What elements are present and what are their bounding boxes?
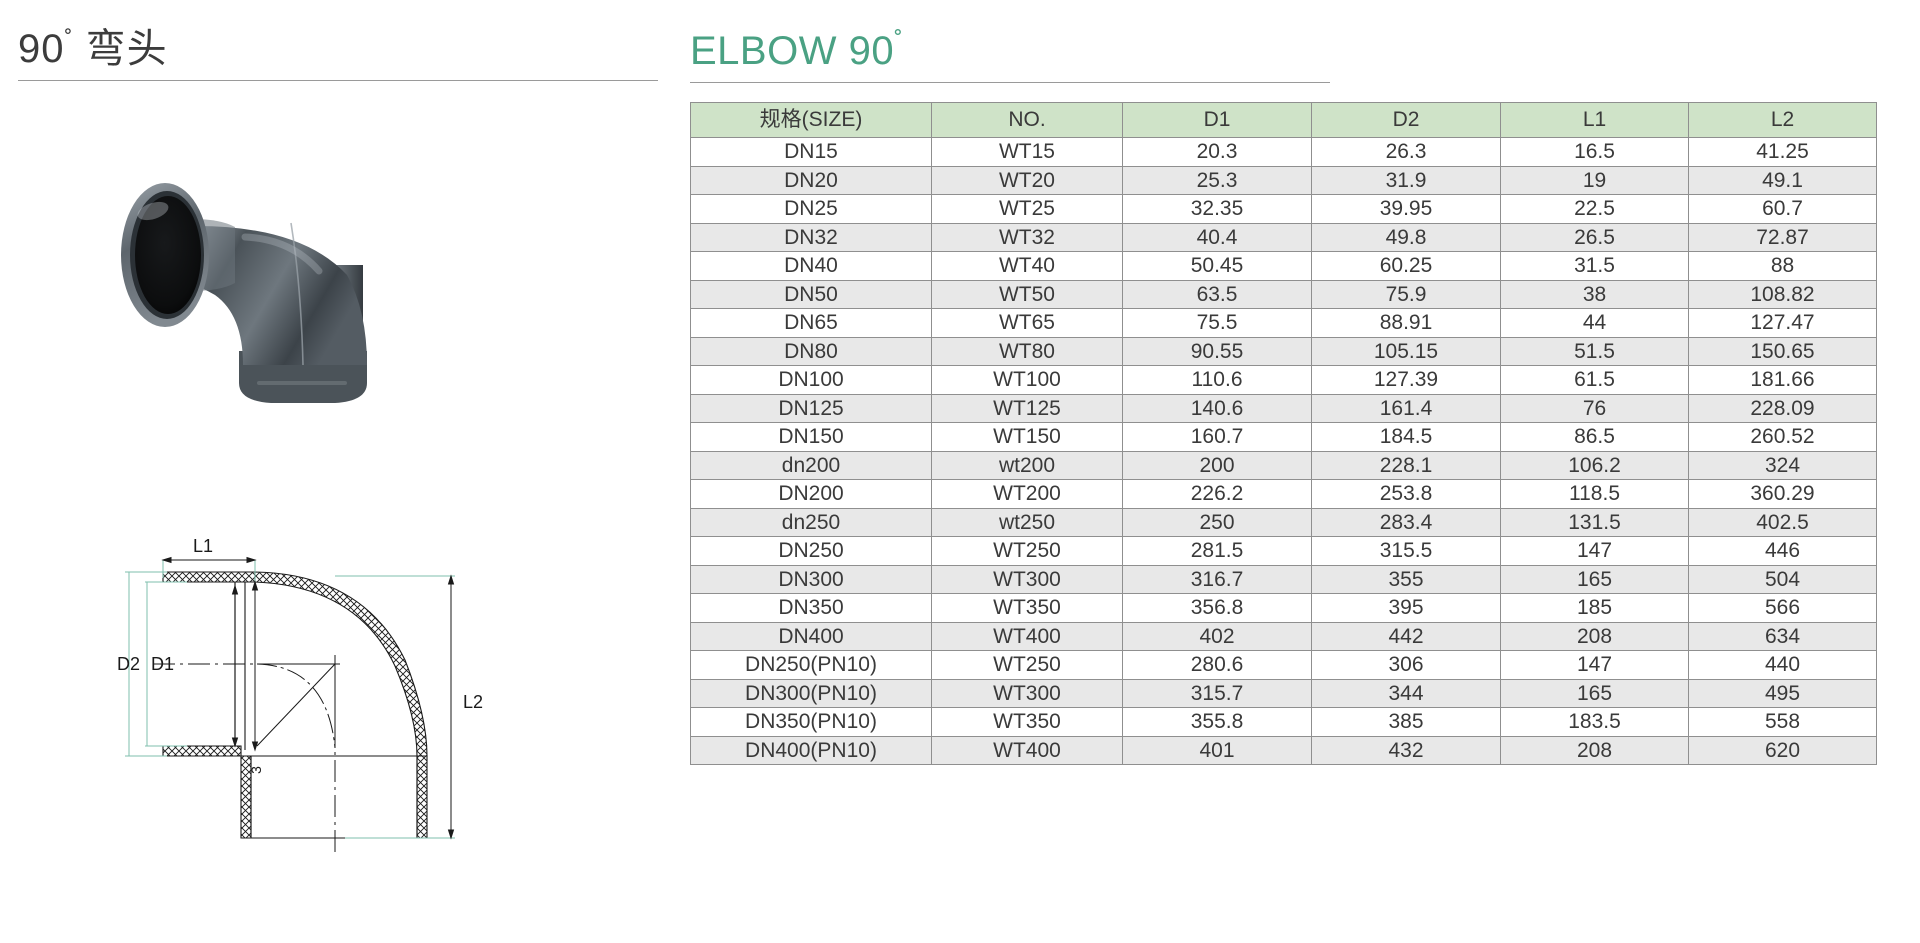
table-cell-d1: 355.8 [1123,708,1312,737]
table-row: DN300(PN10)WT300315.7344165495 [691,679,1877,708]
table-cell-l1: 44 [1501,309,1689,338]
table-cell-d2: 253.8 [1312,480,1501,509]
table-cell-no: WT400 [932,622,1123,651]
table-cell-no: WT100 [932,366,1123,395]
table-cell-l1: 51.5 [1501,337,1689,366]
table-cell-size: DN350 [691,594,932,623]
degree-symbol-chinese: ˚ [65,27,74,54]
table-cell-no: WT20 [932,166,1123,195]
table-cell-no: WT40 [932,252,1123,281]
table-cell-no: WT300 [932,679,1123,708]
title-underline-chinese [18,80,658,81]
table-cell-no: wt200 [932,451,1123,480]
table-cell-l2: 360.29 [1689,480,1877,509]
dimension-l1-arrowline [163,558,255,563]
l1-arrow-right [247,558,255,563]
table-cell-size: DN40 [691,252,932,281]
table-cell-l1: 208 [1501,622,1689,651]
table-cell-no: WT125 [932,394,1123,423]
product-photo-svg [95,115,475,415]
table-cell-size: DN50 [691,280,932,309]
table-cell-l1: 16.5 [1501,138,1689,167]
dimension-label-d2: D2 [117,654,140,674]
table-cell-d2: 385 [1312,708,1501,737]
table-cell-d2: 306 [1312,651,1501,680]
table-cell-l2: 260.52 [1689,423,1877,452]
table-cell-d1: 315.7 [1123,679,1312,708]
table-cell-size: dn250 [691,508,932,537]
table-row: DN125WT125140.6161.476228.09 [691,394,1877,423]
page-title-chinese-word: 弯头 [74,27,168,71]
specification-table-wrapper: 规格(SIZE) NO. D1 D2 L1 L2 DN15WT1520.326.… [690,102,1870,765]
table-cell-l1: 208 [1501,736,1689,765]
page-title-chinese: 90˚ 弯头 [18,16,658,74]
dimension-l2 [335,576,455,838]
table-row: DN50WT5063.575.938108.82 [691,280,1877,309]
table-cell-no: WT250 [932,651,1123,680]
table-cell-size: DN200 [691,480,932,509]
table-cell-d2: 75.9 [1312,280,1501,309]
table-cell-d2: 283.4 [1312,508,1501,537]
table-cell-size: DN400 [691,622,932,651]
table-cell-size: dn200 [691,451,932,480]
table-cell-l1: 147 [1501,537,1689,566]
table-cell-l2: 566 [1689,594,1877,623]
table-cell-l2: 446 [1689,537,1877,566]
table-cell-no: WT250 [932,537,1123,566]
table-cell-no: WT400 [932,736,1123,765]
table-cell-size: DN20 [691,166,932,195]
table-cell-l1: 185 [1501,594,1689,623]
product-photo [95,115,475,415]
table-cell-d2: 49.8 [1312,223,1501,252]
table-cell-d2: 31.9 [1312,166,1501,195]
table-cell-d2: 105.15 [1312,337,1501,366]
thickness-arrow-bottom-b [253,742,258,750]
table-cell-d1: 356.8 [1123,594,1312,623]
table-cell-size: DN300 [691,565,932,594]
technical-drawing: L1 D2 D1 [95,520,515,860]
table-cell-d1: 316.7 [1123,565,1312,594]
table-row: DN25WT2532.3539.9522.560.7 [691,195,1877,224]
l2-arrow-top [449,576,454,584]
table-cell-l1: 38 [1501,280,1689,309]
thickness-arrow-top-b [253,582,258,590]
table-cell-l1: 26.5 [1501,223,1689,252]
table-cell-d2: 60.25 [1312,252,1501,281]
table-cell-l1: 31.5 [1501,252,1689,281]
table-cell-l2: 495 [1689,679,1877,708]
column-header-size: 规格(SIZE) [691,103,932,138]
l2-arrow-bottom [449,830,454,838]
bend-radius-construction [257,664,335,748]
table-cell-l2: 181.66 [1689,366,1877,395]
column-header-l2: L2 [1689,103,1877,138]
table-cell-size: DN80 [691,337,932,366]
table-head: 规格(SIZE) NO. D1 D2 L1 L2 [691,103,1877,138]
table-cell-size: DN250 [691,537,932,566]
bore-outline-vertical [251,756,417,838]
page-title-english: ELBOW 90˚ [690,16,1330,76]
table-cell-d1: 401 [1123,736,1312,765]
table-cell-l2: 72.87 [1689,223,1877,252]
table-cell-size: DN250(PN10) [691,651,932,680]
table-cell-size: DN65 [691,309,932,338]
table-cell-d1: 110.6 [1123,366,1312,395]
table-cell-d1: 402 [1123,622,1312,651]
table-cell-l2: 440 [1689,651,1877,680]
table-row: DN350(PN10)WT350355.8385183.5558 [691,708,1877,737]
dimension-label-l1: L1 [193,536,213,556]
table-body: DN15WT1520.326.316.541.25DN20WT2025.331.… [691,138,1877,765]
table-cell-d2: 432 [1312,736,1501,765]
wall-hatch-top-left [163,572,255,582]
table-row: DN150WT150160.7184.586.5260.52 [691,423,1877,452]
table-cell-no: WT32 [932,223,1123,252]
table-cell-size: DN300(PN10) [691,679,932,708]
table-cell-l2: 127.47 [1689,309,1877,338]
left-column: 90˚ 弯头 [0,0,690,943]
table-cell-d2: 127.39 [1312,366,1501,395]
table-cell-size: DN400(PN10) [691,736,932,765]
table-row: DN200WT200226.2253.8118.5360.29 [691,480,1877,509]
table-cell-no: WT200 [932,480,1123,509]
table-cell-d2: 442 [1312,622,1501,651]
table-cell-d1: 50.45 [1123,252,1312,281]
table-cell-d1: 281.5 [1123,537,1312,566]
table-cell-no: WT150 [932,423,1123,452]
product-datasheet-page: 90˚ 弯头 [0,0,1920,943]
table-cell-l2: 504 [1689,565,1877,594]
title-english-block: ELBOW 90˚ [690,16,1330,83]
title-chinese-block: 90˚ 弯头 [18,16,658,81]
table-row: DN15WT1520.326.316.541.25 [691,138,1877,167]
column-header-d1: D1 [1123,103,1312,138]
dimension-l2-arrowline [449,576,454,838]
table-cell-d1: 40.4 [1123,223,1312,252]
table-cell-l2: 41.25 [1689,138,1877,167]
table-row: dn250wt250250283.4131.5402.5 [691,508,1877,537]
table-cell-no: WT350 [932,594,1123,623]
table-cell-d2: 344 [1312,679,1501,708]
table-row: DN400(PN10)WT400401432208620 [691,736,1877,765]
thickness-arrow-bottom [233,738,238,746]
wall-hatch-bottom-left [163,746,241,756]
table-row: DN80WT8090.55105.1551.5150.65 [691,337,1877,366]
table-row: DN250(PN10)WT250280.6306147440 [691,651,1877,680]
table-cell-l1: 131.5 [1501,508,1689,537]
technical-drawing-svg: L1 D2 D1 [95,520,515,860]
table-cell-d1: 90.55 [1123,337,1312,366]
table-cell-d1: 25.3 [1123,166,1312,195]
table-cell-d2: 88.91 [1312,309,1501,338]
table-cell-no: WT50 [932,280,1123,309]
dimension-label-l2: L2 [463,692,483,712]
table-cell-d2: 161.4 [1312,394,1501,423]
right-column: ELBOW 90˚ 规格(SIZE) NO. D1 D2 L1 L2 DN15W… [690,0,1920,943]
table-cell-l1: 61.5 [1501,366,1689,395]
table-cell-no: WT65 [932,309,1123,338]
table-cell-d2: 26.3 [1312,138,1501,167]
table-cell-d1: 20.3 [1123,138,1312,167]
table-cell-size: DN150 [691,423,932,452]
page-title-chinese-number: 90 [18,27,65,71]
specification-table: 规格(SIZE) NO. D1 D2 L1 L2 DN15WT1520.326.… [690,102,1877,765]
table-cell-l2: 620 [1689,736,1877,765]
table-cell-l2: 634 [1689,622,1877,651]
table-cell-no: wt250 [932,508,1123,537]
table-cell-l2: 150.65 [1689,337,1877,366]
table-cell-size: DN350(PN10) [691,708,932,737]
table-cell-d2: 228.1 [1312,451,1501,480]
table-cell-l1: 106.2 [1501,451,1689,480]
table-row: DN400WT400402442208634 [691,622,1877,651]
table-row: DN350WT350356.8395185566 [691,594,1877,623]
table-cell-d2: 395 [1312,594,1501,623]
table-cell-no: WT80 [932,337,1123,366]
table-header-row: 规格(SIZE) NO. D1 D2 L1 L2 [691,103,1877,138]
table-cell-l1: 165 [1501,565,1689,594]
table-cell-l2: 88 [1689,252,1877,281]
table-cell-l2: 324 [1689,451,1877,480]
dimension-label-angle: 3 [248,766,264,774]
table-cell-l1: 19 [1501,166,1689,195]
table-cell-l1: 76 [1501,394,1689,423]
table-cell-l2: 49.1 [1689,166,1877,195]
table-cell-d1: 140.6 [1123,394,1312,423]
table-cell-d1: 63.5 [1123,280,1312,309]
table-cell-size: DN32 [691,223,932,252]
table-cell-l2: 402.5 [1689,508,1877,537]
table-cell-l1: 165 [1501,679,1689,708]
table-cell-no: WT25 [932,195,1123,224]
table-cell-size: DN15 [691,138,932,167]
l1-arrow-left [163,558,171,563]
table-cell-d2: 184.5 [1312,423,1501,452]
table-cell-d1: 250 [1123,508,1312,537]
title-underline-english [690,82,1330,83]
table-cell-l1: 183.5 [1501,708,1689,737]
table-row: DN32WT3240.449.826.572.87 [691,223,1877,252]
table-row: DN40WT4050.4560.2531.588 [691,252,1877,281]
table-cell-d1: 226.2 [1123,480,1312,509]
table-cell-size: DN100 [691,366,932,395]
degree-symbol-english: ˚ [894,26,903,56]
table-cell-l1: 118.5 [1501,480,1689,509]
page-title-english-word: ELBOW 90 [690,29,894,73]
table-cell-no: WT350 [932,708,1123,737]
column-header-no: NO. [932,103,1123,138]
table-cell-d2: 355 [1312,565,1501,594]
table-cell-d1: 280.6 [1123,651,1312,680]
wall-hatch-vertical-right [417,756,427,838]
table-cell-d2: 315.5 [1312,537,1501,566]
column-header-d2: D2 [1312,103,1501,138]
table-cell-l2: 108.82 [1689,280,1877,309]
table-row: DN20WT2025.331.91949.1 [691,166,1877,195]
table-cell-l2: 558 [1689,708,1877,737]
table-cell-l2: 60.7 [1689,195,1877,224]
table-row: DN100WT100110.6127.3961.5181.66 [691,366,1877,395]
table-cell-l1: 86.5 [1501,423,1689,452]
column-header-l1: L1 [1501,103,1689,138]
table-cell-d1: 160.7 [1123,423,1312,452]
socket-depth-lines [235,582,245,750]
table-cell-d1: 75.5 [1123,309,1312,338]
table-cell-no: WT300 [932,565,1123,594]
table-cell-l1: 22.5 [1501,195,1689,224]
table-cell-d2: 39.95 [1312,195,1501,224]
table-cell-size: DN125 [691,394,932,423]
table-row: dn200wt200200228.1106.2324 [691,451,1877,480]
table-cell-d1: 200 [1123,451,1312,480]
dimension-label-d1: D1 [151,654,174,674]
table-cell-l2: 228.09 [1689,394,1877,423]
table-cell-no: WT15 [932,138,1123,167]
table-row: DN250WT250281.5315.5147446 [691,537,1877,566]
table-row: DN300WT300316.7355165504 [691,565,1877,594]
table-row: DN65WT6575.588.9144127.47 [691,309,1877,338]
table-cell-l1: 147 [1501,651,1689,680]
radius-diagonal [257,664,335,746]
table-cell-size: DN25 [691,195,932,224]
thickness-arrow-top [233,586,238,594]
table-cell-d1: 32.35 [1123,195,1312,224]
